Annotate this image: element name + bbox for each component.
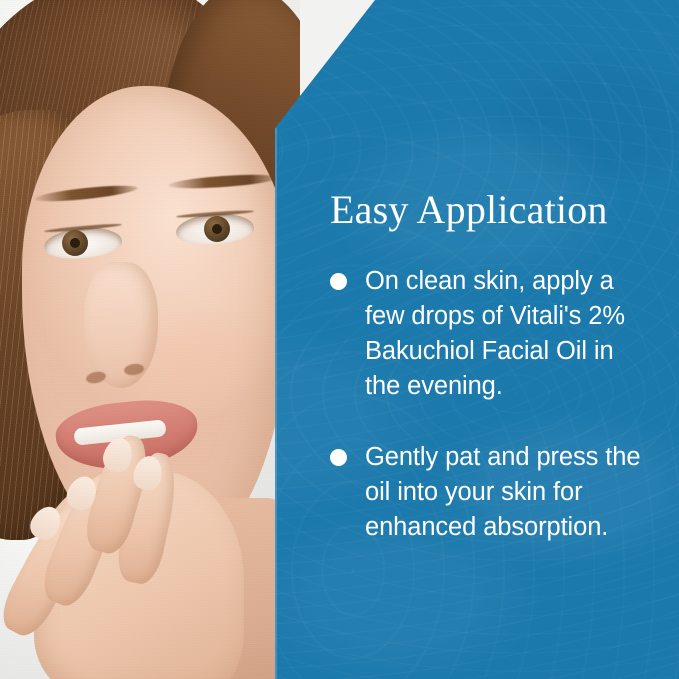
- list-item-text: On clean skin, apply a few drops of Vita…: [365, 264, 646, 404]
- pupil-right: [212, 224, 222, 234]
- bullet-dot-icon: [330, 273, 347, 290]
- nose: [84, 262, 158, 388]
- instruction-list: On clean skin, apply a few drops of Vita…: [330, 264, 646, 545]
- panel-content: Easy Application On clean skin, apply a …: [330, 186, 646, 545]
- model-portrait-photo: [0, 0, 300, 679]
- list-item: On clean skin, apply a few drops of Vita…: [330, 264, 646, 404]
- pupil-left: [70, 238, 80, 248]
- product-infographic: Easy Application On clean skin, apply a …: [0, 0, 679, 679]
- bullet-dot-icon: [330, 449, 347, 466]
- list-item: Gently pat and press the oil into your s…: [330, 440, 646, 545]
- list-item-text: Gently pat and press the oil into your s…: [365, 440, 646, 545]
- panel-left-edge-highlight: [275, 128, 277, 679]
- page-title: Easy Application: [330, 186, 646, 234]
